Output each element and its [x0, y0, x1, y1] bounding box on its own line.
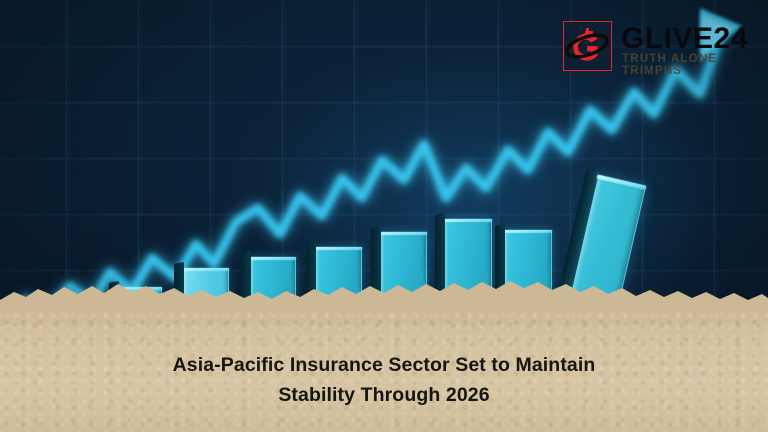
brand-wordmark: GLIVE24: [621, 22, 748, 56]
glive24-g-icon[interactable]: [563, 21, 612, 71]
brand-tagline: TRUTH ALONE TRIMPHS: [622, 53, 753, 77]
headline-line-2: Stability Through 2026: [0, 380, 768, 410]
brand-logo[interactable]: GLIVE24 TRUTH ALONE TRIMPHS: [563, 20, 753, 74]
sand-top-edge: [0, 270, 768, 316]
page-title: Asia-Pacific Insurance Sector Set to Mai…: [0, 350, 768, 410]
news-banner-graphic: Asia-Pacific Insurance Sector Set to Mai…: [0, 0, 768, 432]
headline-line-1: Asia-Pacific Insurance Sector Set to Mai…: [173, 354, 596, 376]
